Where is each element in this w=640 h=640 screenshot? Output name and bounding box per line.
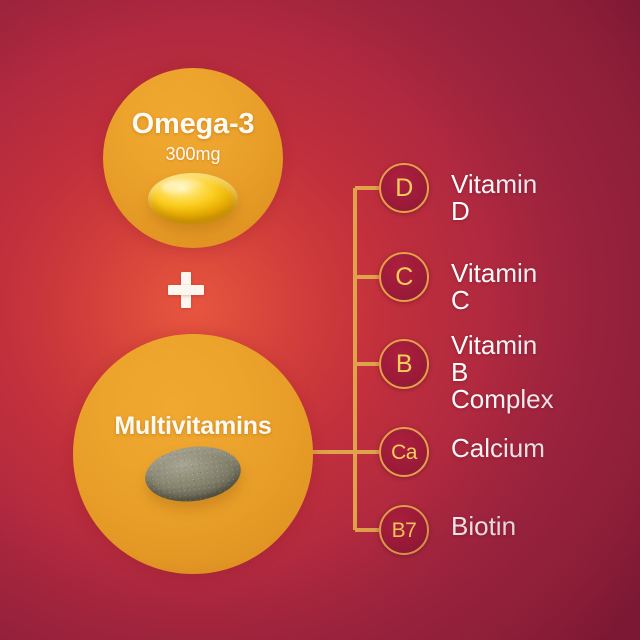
nutrient-badge-label: B7 (392, 520, 417, 541)
plus-icon (168, 272, 204, 308)
nutrient-name-vitamin-c: Vitamin C (451, 260, 537, 314)
softgel-capsule-icon (148, 173, 238, 225)
nutrient-badge-label: D (395, 176, 413, 201)
nutrient-badge-subscript: a (406, 441, 417, 464)
omega3-dose: 300mg (103, 144, 283, 165)
nutrient-badge-primary: C (391, 441, 406, 464)
nutrient-badge-label: Ca (391, 442, 417, 463)
multivitamins-title: Multivitamins (73, 412, 313, 441)
connector-bracket (0, 0, 640, 640)
nutrient-badge-b7: B7 (379, 505, 429, 555)
nutrient-badge-ca: Ca (379, 427, 429, 477)
nutrient-name-vitamin-d: Vitamin D (451, 171, 537, 225)
nutrient-badge-label: B (396, 352, 412, 377)
nutrient-badge-c: C (379, 252, 429, 302)
nutrient-badge-b: B (379, 339, 429, 389)
omega3-title: Omega-3 (103, 108, 283, 141)
nutrient-badge-label: C (395, 265, 413, 290)
omega3-product-circle[interactable]: Omega-3 300mg (103, 68, 283, 248)
infographic-canvas: Omega-3 300mg Multivitamins D Vitamin D … (0, 0, 640, 640)
multivitamins-product-circle[interactable]: Multivitamins (73, 334, 313, 574)
nutrient-badge-d: D (379, 163, 429, 213)
oval-tablet-icon (142, 441, 244, 506)
nutrient-name-vitamin-b-complex: Vitamin B Complex (451, 332, 554, 413)
nutrient-name-calcium: Calcium (451, 435, 545, 462)
nutrient-name-biotin: Biotin (451, 513, 516, 540)
